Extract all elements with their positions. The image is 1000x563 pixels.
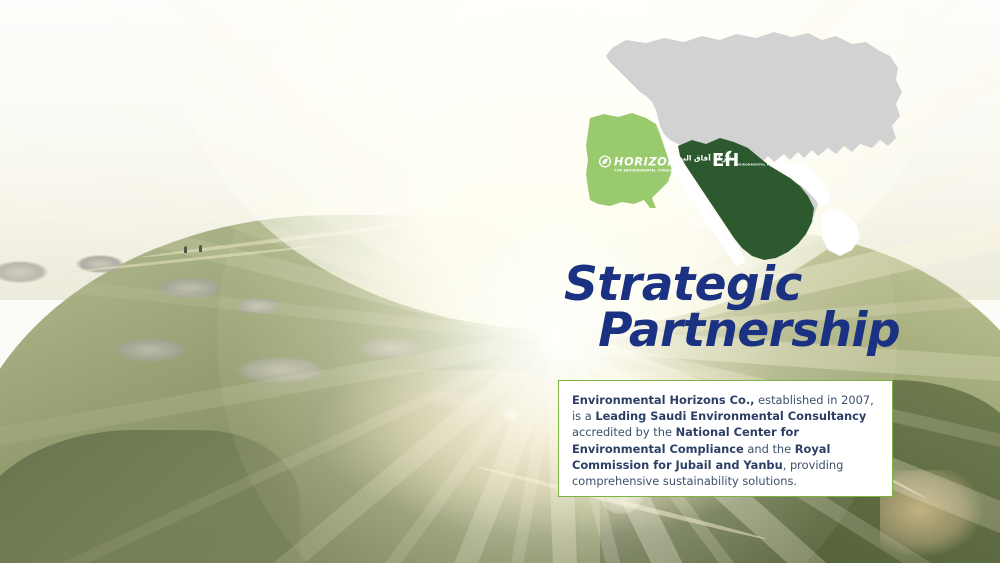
description-bold-phrase: Environmental Horizons Co., [572,393,755,407]
description-bold-phrase: Leading Saudi Environmental Consultancy [595,409,866,423]
eh-english-name: ENVIRONMENTAL HORIZONS CO. [734,163,794,167]
hiker-figure [184,246,187,253]
horizon-wordmark: HORIZON [614,156,678,169]
description-plain-phrase: accredited by the [572,425,676,439]
title-line-2: Partnership [560,308,900,354]
eh-arabic-name: شركة آفاق البيئة [673,153,734,163]
horizon-tagline: FOR ENVIRONMENTAL CONSULTING [615,168,683,172]
company-description-box: Environmental Horizons Co., established … [558,380,893,497]
title-line-1: Strategic [560,262,900,308]
middle-east-map: HORIZON FOR ENVIRONMENTAL CONSULTING EH … [560,18,905,273]
map-arabian-sea-cut [822,208,860,256]
slide-canvas: HORIZON FOR ENVIRONMENTAL CONSULTING EH … [0,0,1000,563]
hiker-figure [199,245,202,252]
description-plain-phrase: and the [744,442,795,456]
shadow-gully [0,430,300,563]
company-description-text: Environmental Horizons Co., established … [572,392,879,489]
slide-title: Strategic Partnership [560,262,900,354]
